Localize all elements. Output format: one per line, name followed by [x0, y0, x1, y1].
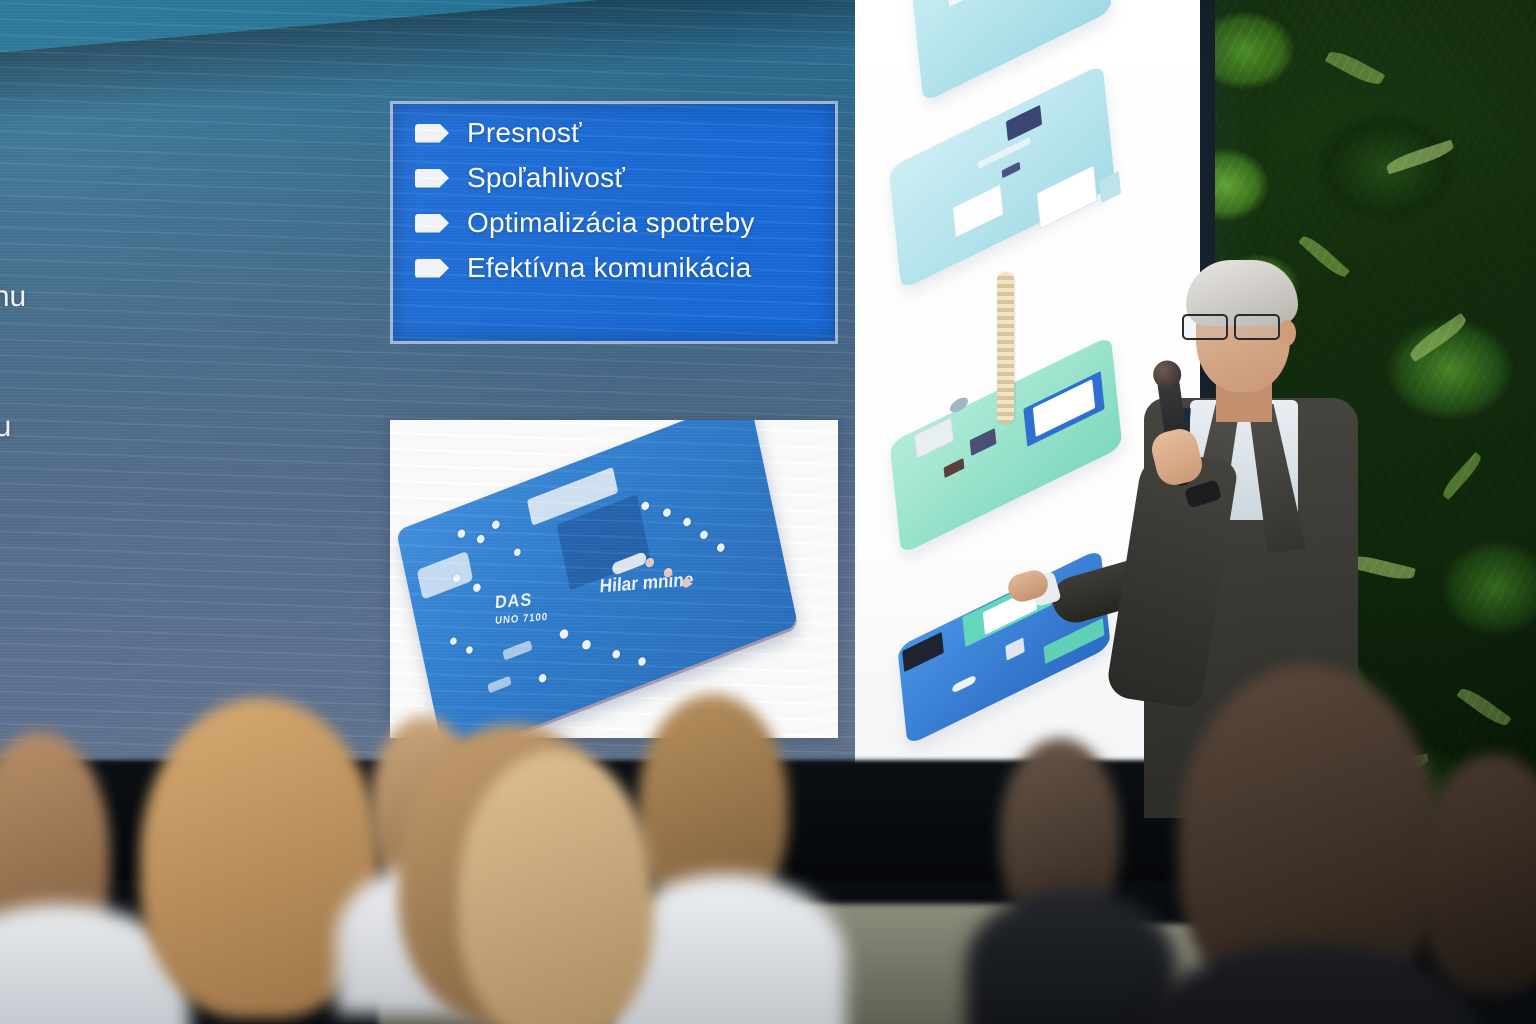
callout-label: Spoľahlivosť: [467, 162, 625, 194]
list-item: design & výroba: [0, 108, 96, 147]
callout-row: Presnosť: [415, 117, 835, 149]
pcb-photo-card: DAS UNO 7100 Hilar mnine: [390, 420, 838, 738]
pcb-silkscreen: DAS: [494, 590, 532, 614]
arrow-tag-icon: [415, 214, 449, 233]
arrow-tag-icon: [415, 169, 449, 188]
callout-label: Optimalizácia spotreby: [467, 207, 755, 239]
presentation-photo: e & firmware design & výroba podložené v…: [0, 0, 1536, 1024]
pcb-silkscreen-sub: UNO 7100: [495, 612, 548, 628]
projection-screen: e & firmware design & výroba podložené v…: [0, 0, 1200, 794]
list-item: á) kalibrácia: [0, 342, 96, 381]
blue-pcb-photo: DAS UNO 7100 Hilar mnine: [396, 420, 798, 738]
list-item: podložené vlastnými mi publikáciami: [0, 173, 96, 251]
callout-row: Spoľahlivosť: [415, 162, 835, 194]
callout-box: Presnosť Spoľahlivosť Optimalizácia spot…: [390, 101, 838, 344]
audience-foreground: [0, 694, 1536, 1024]
callout-label: Presnosť: [467, 117, 582, 149]
audience-head: [458, 750, 654, 1024]
eyeglasses-icon: [1182, 314, 1286, 338]
list-item: ajlepších senzorov na trhu: [0, 277, 96, 316]
slide-bullet-list: design & výroba podložené vlastnými mi p…: [0, 108, 96, 615]
callout-label: Efektívna komunikácia: [467, 252, 751, 284]
arrow-tag-icon: [415, 124, 449, 143]
list-item: enie individuálnym kám zákazníka: [0, 511, 96, 589]
callout-row: Efektívna komunikácia: [415, 252, 835, 284]
slide-body: e & firmware design & výroba podložené v…: [0, 0, 855, 794]
callout-row: Optimalizácia spotreby: [415, 207, 835, 239]
arrow-tag-icon: [415, 259, 449, 278]
audience-head: [1418, 754, 1536, 994]
list-item: zariadenia s dlhou dobou térie (2 - 10 r…: [0, 407, 96, 485]
helical-antenna-icon: [997, 272, 1014, 424]
